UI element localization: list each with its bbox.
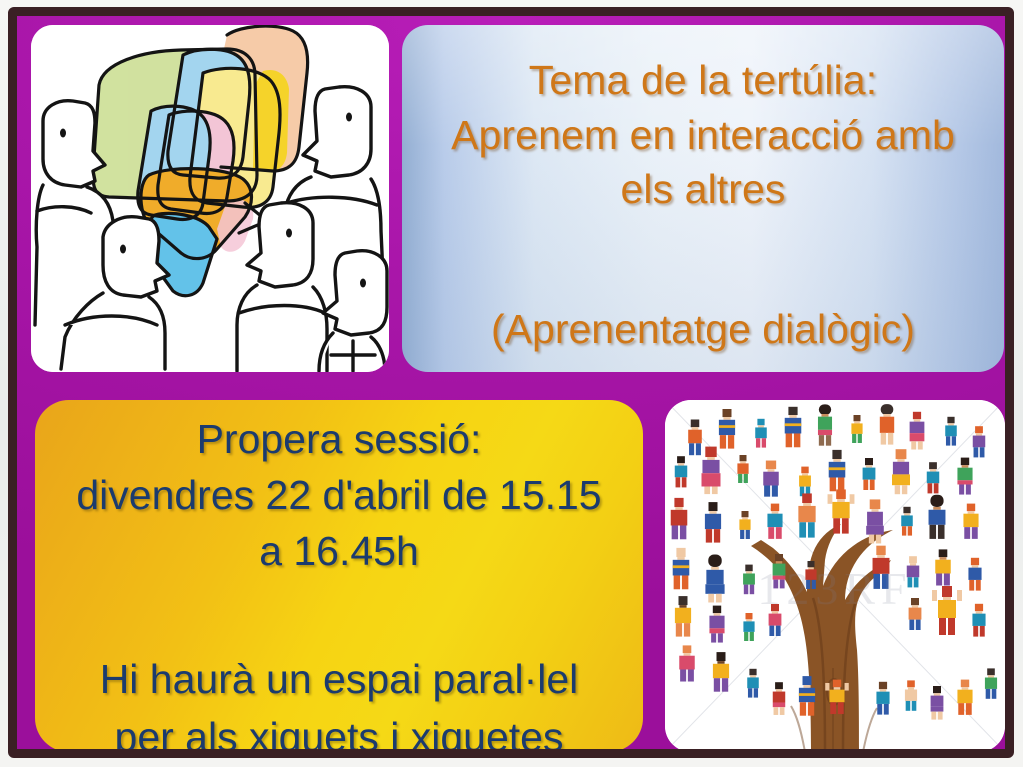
theme-title-line-3: els altres [418,162,988,217]
conversation-line-art-icon [31,25,389,372]
session-note: Hi haurà un espai paral·lel per als xiqu… [35,650,643,752]
panel-people-tree-illustration: 123RF [665,400,1005,752]
people-tree-icon [665,400,1005,752]
session-note-line-1: Hi haurà un espai paral·lel [43,650,635,708]
theme-title-line-2: Aprenem en interacció amb [418,108,988,163]
session-heading-line-3: a 16.45h [43,524,635,580]
session-heading-line-2: divendres 22 d'abril de 15.15 [43,468,635,524]
poster-frame: Tema de la tertúlia: Aprenem en interacc… [8,7,1014,758]
slide-canvas: Tema de la tertúlia: Aprenem en interacc… [0,0,1023,767]
panel-conversation-illustration [31,25,389,372]
theme-subtitle: (Aprenentatge dialògic) [402,305,1004,354]
session-heading: Propera sessió: divendres 22 d'abril de … [35,412,643,579]
theme-title-line-1: Tema de la tertúlia: [418,53,988,108]
panel-theme-text: Tema de la tertúlia: Aprenem en interacc… [402,25,1004,372]
panel-session-info: Propera sessió: divendres 22 d'abril de … [35,400,643,752]
session-note-line-2: per als xiquets i xiquetes [43,708,635,752]
session-heading-line-1: Propera sessió: [43,412,635,468]
theme-title: Tema de la tertúlia: Aprenem en interacc… [402,53,1004,217]
